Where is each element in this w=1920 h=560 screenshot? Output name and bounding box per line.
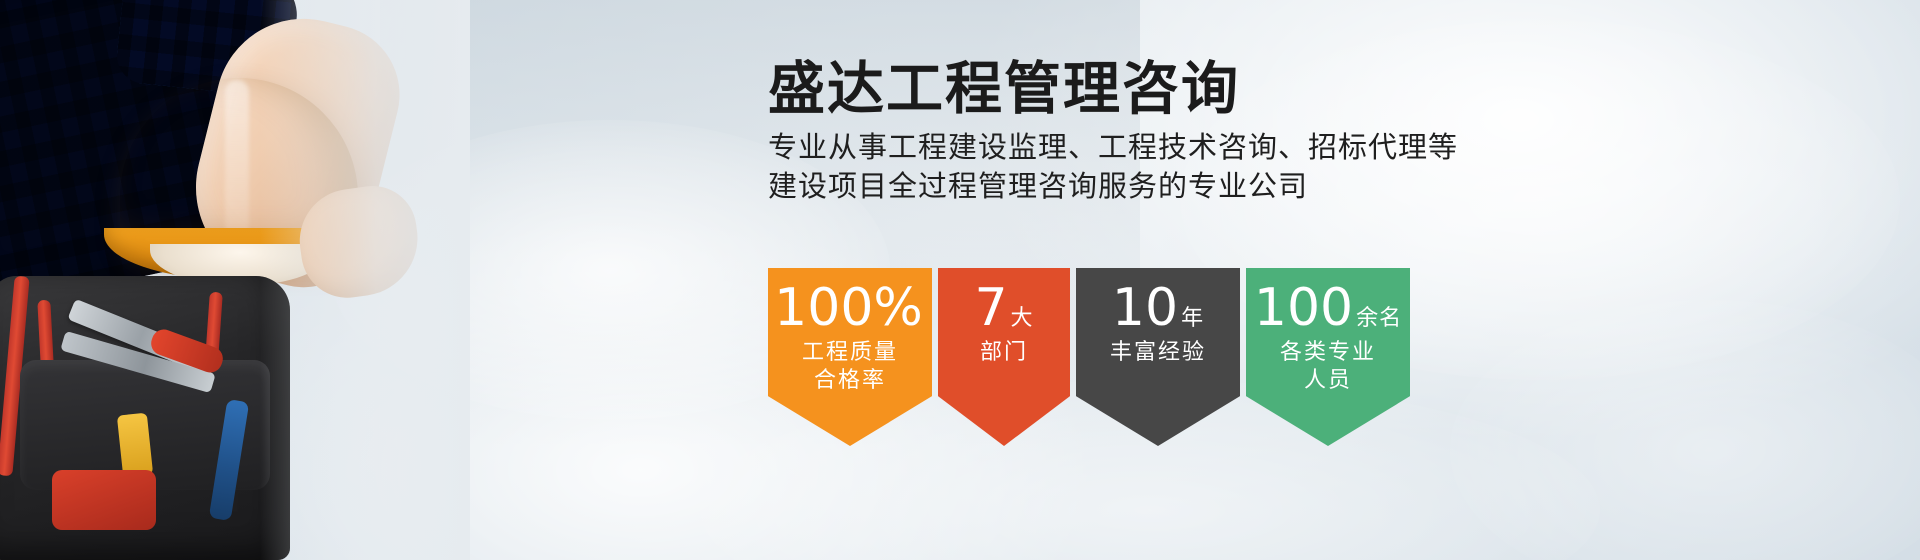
stats-row: 100% 工程质量 合格率 7大 部门 10年 丰富经验: [768, 268, 1410, 446]
stat-value-row: 7大: [938, 282, 1070, 335]
tape-measure-icon: [52, 470, 156, 530]
stat-badge-departments[interactable]: 7大 部门: [938, 268, 1070, 446]
stat-value: 100: [1254, 282, 1353, 335]
stat-badge-professional-staff[interactable]: 100余名 各类专业 人员: [1246, 268, 1410, 446]
stat-caption-line: 各类专业: [1246, 339, 1410, 367]
stat-caption-line: 部门: [938, 339, 1070, 367]
headline-block: 盛达工程管理咨询 专业从事工程建设监理、工程技术咨询、招标代理等 建设项目全过程…: [768, 58, 1528, 206]
stat-caption: 各类专业 人员: [1246, 339, 1410, 395]
stat-caption-line: 工程质量: [768, 339, 932, 367]
stat-caption-line: 人员: [1246, 367, 1410, 395]
stat-caption: 部门: [938, 339, 1070, 367]
stat-caption: 丰富经验: [1076, 339, 1240, 367]
stat-value: 10: [1112, 282, 1178, 335]
stat-caption-line: 合格率: [768, 367, 932, 395]
subtitle-line-2: 建设项目全过程管理咨询服务的专业公司: [768, 167, 1528, 206]
cloud-shape: [1450, 300, 1920, 560]
stat-value-row: 10年: [1076, 282, 1240, 335]
subtitle-line-1: 专业从事工程建设监理、工程技术咨询、招标代理等: [768, 128, 1528, 167]
stat-caption-line: 丰富经验: [1076, 339, 1240, 367]
stat-badge-years-experience[interactable]: 10年 丰富经验: [1076, 268, 1240, 446]
stat-unit: 大: [1008, 307, 1034, 330]
tool-yellow: [117, 413, 153, 478]
stat-value: 100%: [774, 282, 923, 335]
stat-unit: 余名: [1353, 307, 1402, 330]
stat-value-row: 100余名: [1246, 282, 1410, 335]
page-title: 盛达工程管理咨询: [768, 58, 1528, 122]
stat-value: 7: [974, 282, 1007, 335]
stat-caption: 工程质量 合格率: [768, 339, 932, 395]
photo-edge-fade: [260, 0, 470, 560]
hero-banner: 盛达工程管理咨询 专业从事工程建设监理、工程技术咨询、招标代理等 建设项目全过程…: [0, 0, 1920, 560]
worker-photo: [0, 0, 470, 560]
stat-badge-quality-pass-rate[interactable]: 100% 工程质量 合格率: [768, 268, 932, 446]
stat-value-row: 100%: [768, 282, 932, 335]
hard-hat-ridge: [225, 80, 249, 248]
stat-unit: 年: [1178, 307, 1204, 330]
